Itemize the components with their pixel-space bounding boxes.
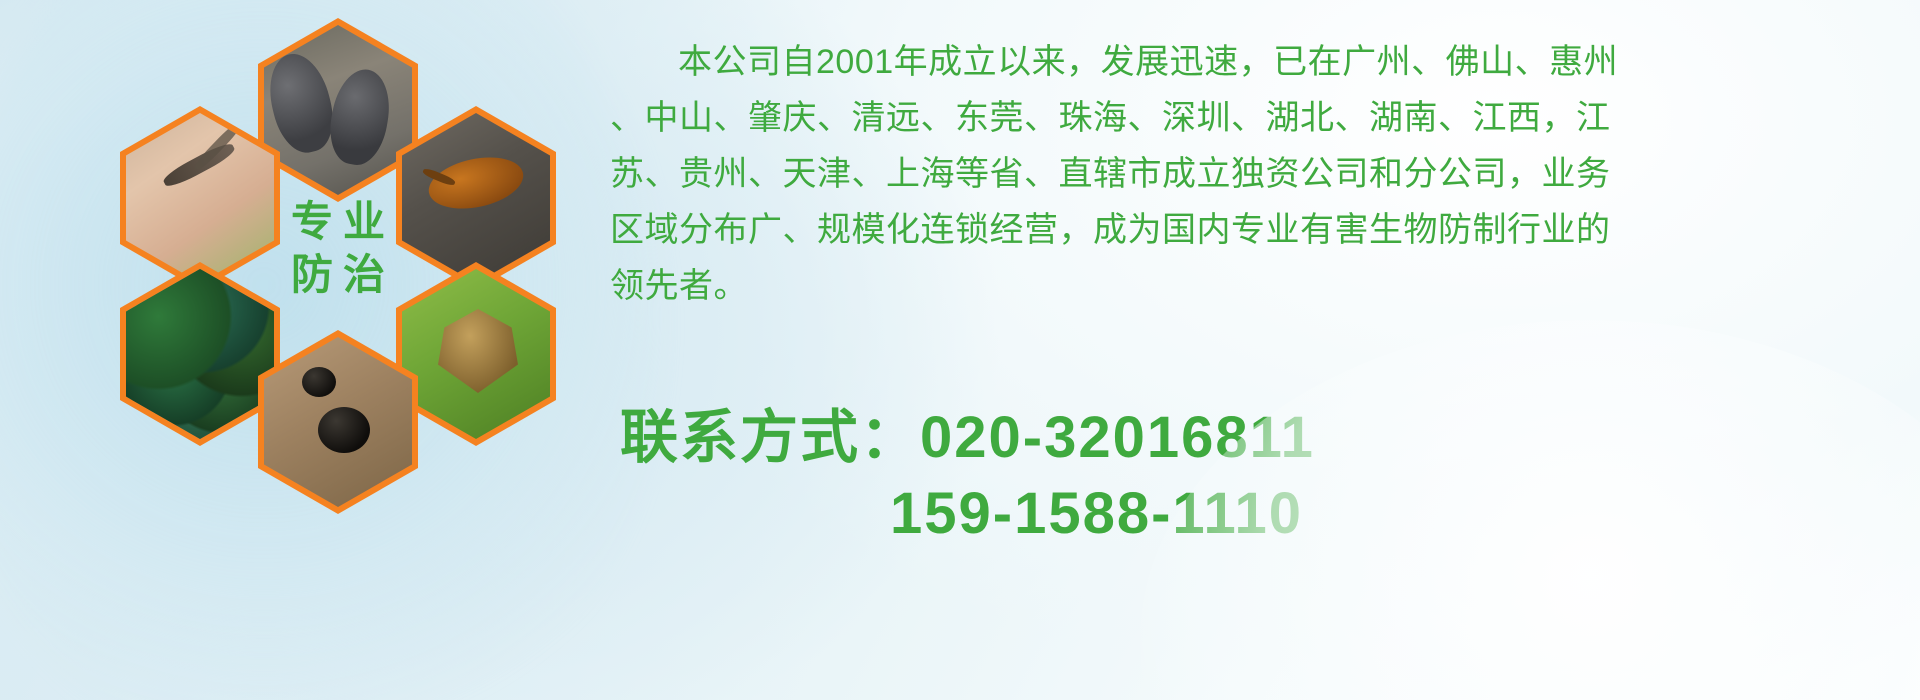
- flies-photo: [126, 269, 274, 439]
- hex-badge-line1: 专业: [281, 198, 395, 245]
- flies-photo-hexagon: [120, 262, 280, 446]
- description-line-2: 、中山、肇庆、清远、东莞、珠海、深圳、湖北、湖南、江西，江: [610, 90, 1910, 146]
- contact-block: 联系方式：020-32016811 159-1588-1110: [620, 400, 1880, 552]
- ant-image: [264, 337, 412, 507]
- contact-phone-landline[interactable]: 联系方式：020-32016811: [620, 400, 1880, 476]
- stinkbug-photo-hexagon: [396, 262, 556, 446]
- ant-photo-hexagon: [258, 330, 418, 514]
- hex-badge-text: 专业 防治: [258, 156, 418, 340]
- description-line-4: 区域分布广、规模化连锁经营，成为国内专业有害生物防制行业的: [610, 202, 1910, 258]
- description-line-5: 领先者。: [610, 258, 1910, 314]
- pest-control-banner: 专业 防治 本公司自2001年成立以来，发展迅速，已在广州、佛山、惠州 、中山、…: [0, 0, 1920, 700]
- mosquito-photo: [126, 113, 274, 283]
- stinkbug-image: [402, 269, 550, 439]
- mosquito-image: [126, 113, 274, 283]
- cockroach-image: [402, 113, 550, 283]
- description-line-3: 苏、贵州、天津、上海等省、直辖市成立独资公司和分公司，业务: [610, 146, 1910, 202]
- flies-image: [126, 269, 274, 439]
- ant-photo: [264, 337, 412, 507]
- description-line-1: 本公司自2001年成立以来，发展迅速，已在广州、佛山、惠州: [610, 34, 1910, 90]
- company-description: 本公司自2001年成立以来，发展迅速，已在广州、佛山、惠州 、中山、肇庆、清远、…: [610, 34, 1910, 314]
- hex-badge-line2: 防治: [281, 251, 395, 298]
- hexagon-photo-cluster: 专业 防治: [80, 0, 600, 580]
- contact-phone-mobile[interactable]: 159-1588-1110: [620, 476, 1880, 552]
- cockroach-photo: [402, 113, 550, 283]
- stinkbug-photo: [402, 269, 550, 439]
